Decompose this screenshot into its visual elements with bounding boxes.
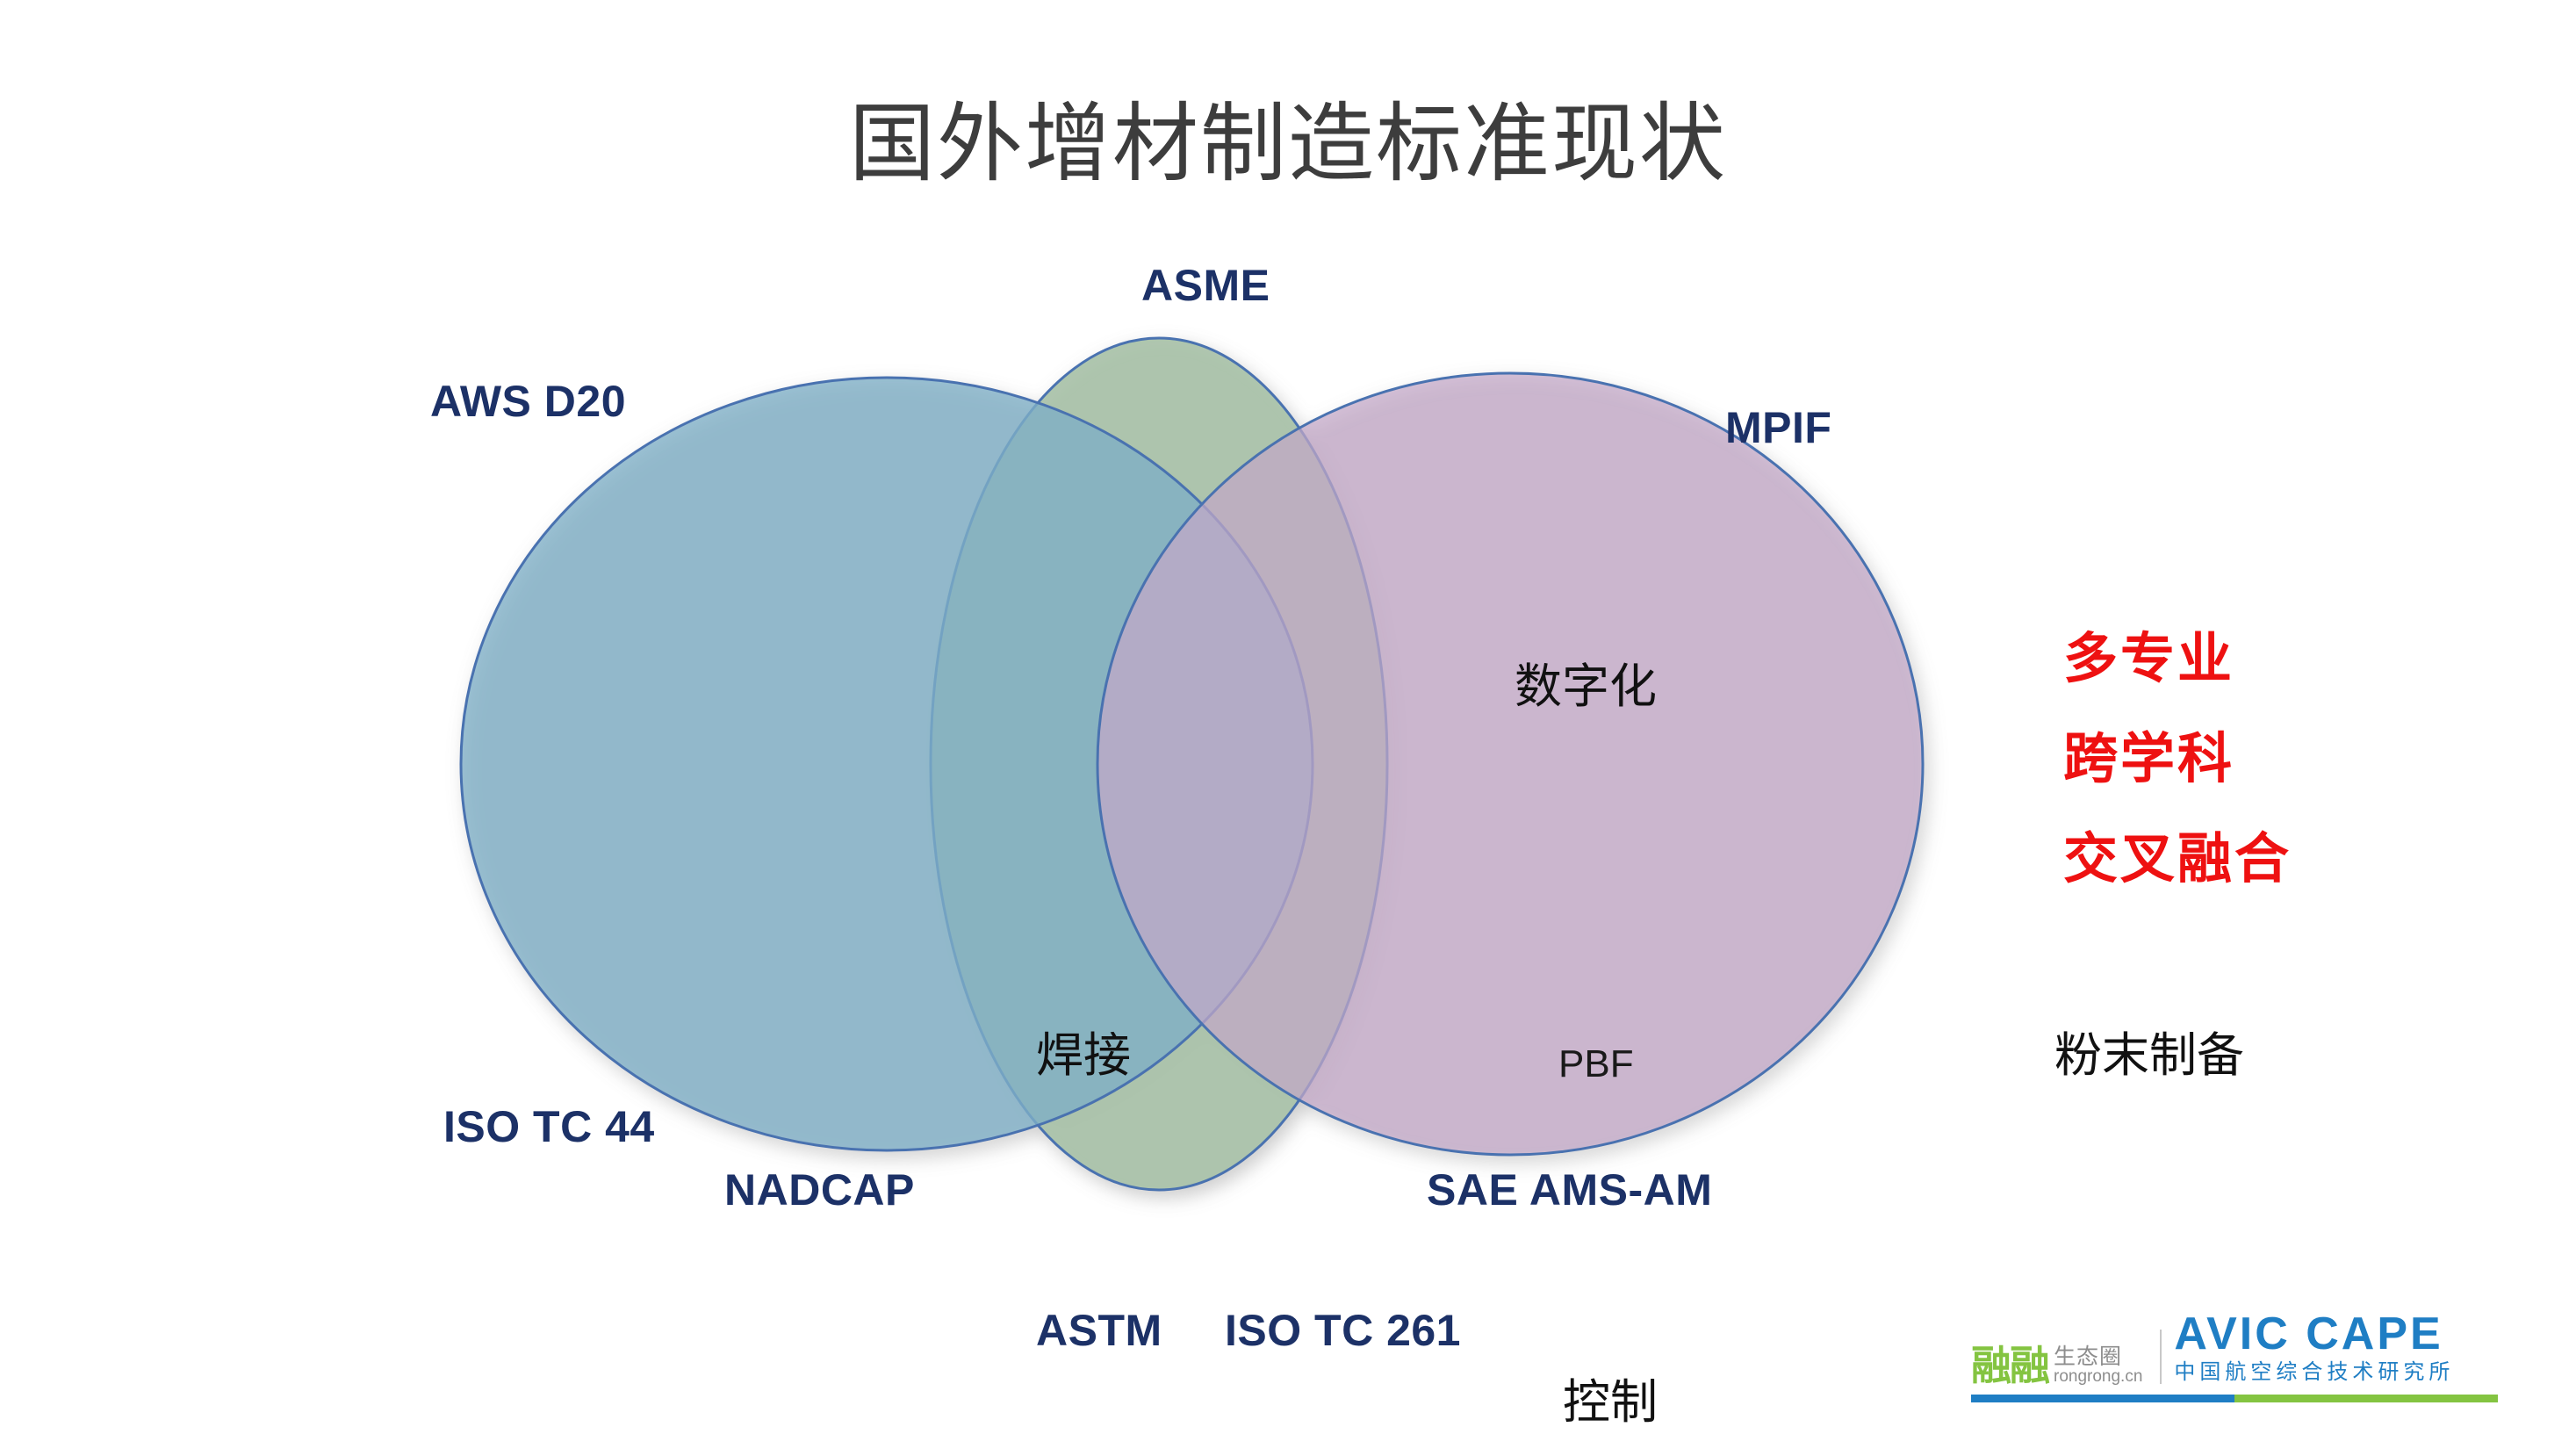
- avic-logo: AVIC CAPE 中国航空综合技术研究所: [2174, 1311, 2454, 1386]
- logo-row: 融融 生态圈 rongrong.cn AVIC CAPE 中国航空综合技术研究所: [1971, 1310, 2515, 1386]
- org-tag-nadcap: NADCAP: [724, 1168, 915, 1212]
- venn-ellipse-powder: [1097, 373, 1923, 1155]
- org-tag-iso-tc-44: ISO TC 44: [443, 1105, 655, 1149]
- logo-bar-green: [2234, 1395, 2498, 1402]
- venn-label-digital: 数字化: [1515, 663, 1657, 710]
- rongrong-logo: 融融 生态圈 rongrong.cn: [1971, 1345, 2142, 1386]
- avic-en-label: AVIC CAPE: [2174, 1311, 2454, 1357]
- logo-lockup: 融融 生态圈 rongrong.cn AVIC CAPE 中国航空综合技术研究所: [1971, 1310, 2515, 1424]
- org-tag-asme: ASME: [1141, 263, 1270, 307]
- venn-label-control: 控制: [1563, 1379, 1658, 1426]
- rongrong-url-label: rongrong.cn: [2054, 1368, 2142, 1386]
- rongrong-cn-label: 生态圈: [2054, 1345, 2142, 1368]
- logo-divider: [2160, 1330, 2162, 1384]
- logo-accent-bars: [1971, 1395, 2498, 1402]
- org-tag-sae-ams-am: SAE AMS-AM: [1427, 1168, 1712, 1212]
- org-tag-aws-d20: AWS D20: [430, 379, 626, 423]
- org-tag-iso-tc-261: ISO TC 261: [1225, 1308, 1461, 1352]
- logo-bar-blue: [1971, 1395, 2234, 1402]
- avic-cn-label: 中国航空综合技术研究所: [2174, 1360, 2454, 1386]
- rongrong-text: 生态圈 rongrong.cn: [2054, 1345, 2142, 1386]
- keypoint-item: 跨学科: [2063, 732, 2432, 787]
- venn-label-pbf: PBF: [1558, 1045, 1634, 1084]
- venn-label-powder: 粉末制备: [2054, 1032, 2244, 1079]
- rongrong-wordmark-icon: 融融: [1971, 1345, 2048, 1386]
- org-tag-astm: ASTM: [1036, 1308, 1162, 1352]
- keypoint-item: 多专业: [2063, 632, 2432, 687]
- slide-canvas: 国外增材制造标准现状 焊接 数字化 控制 粉末制备 PBF: [0, 0, 2576, 1456]
- keypoint-item: 交叉融合: [2063, 833, 2432, 887]
- venn-label-welding: 焊接: [1036, 1032, 1131, 1079]
- org-tag-mpif: MPIF: [1725, 406, 1831, 450]
- keypoints-list: 多专业 跨学科 交叉融合: [2063, 632, 2432, 933]
- page-title: 国外增材制造标准现状: [0, 97, 2576, 191]
